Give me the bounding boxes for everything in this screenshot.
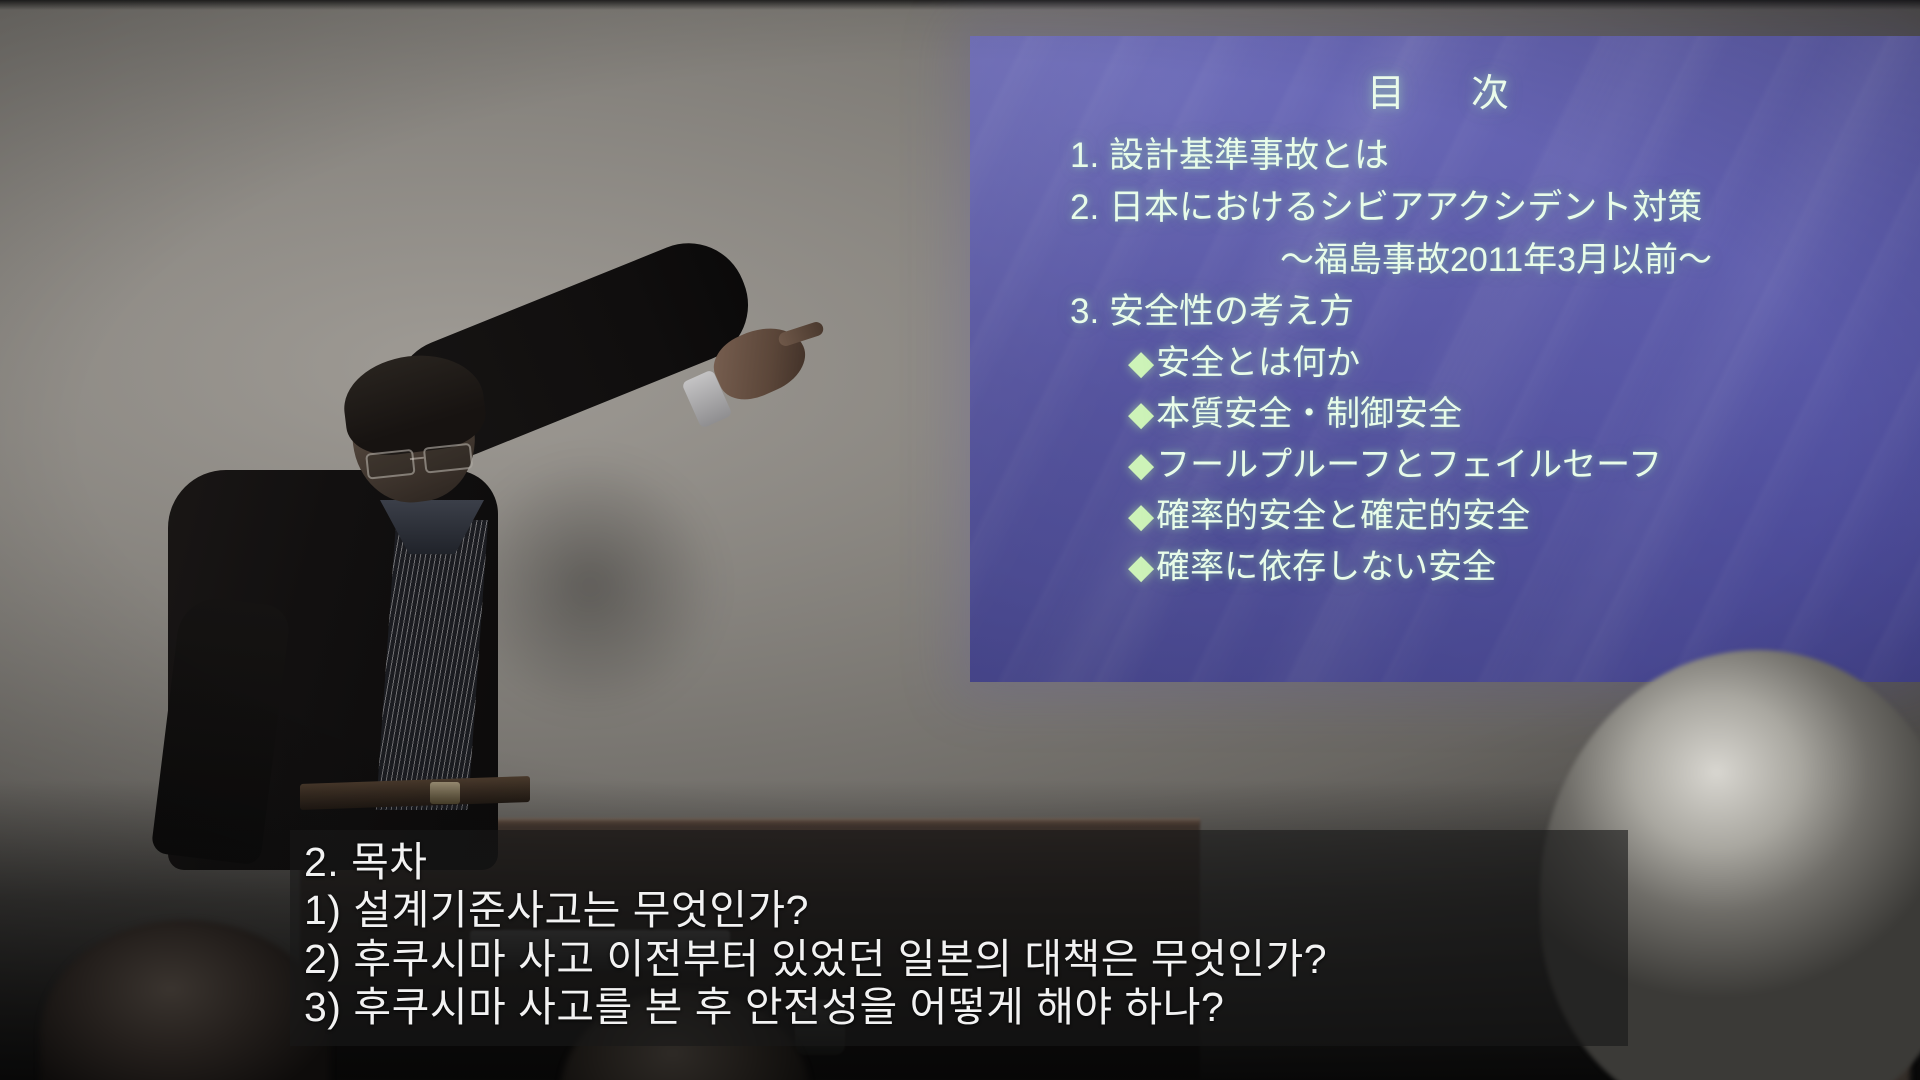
subtitle-overlay: 2. 목차 1) 설계기준사고는 무엇인가? 2) 후쿠시마 사고 이전부터 있… — [290, 830, 1628, 1046]
wall-ceiling-seam — [0, 0, 1920, 10]
slide-item-3-number: 3. — [1070, 292, 1099, 331]
slide-item-2-subnote: 〜福島事故2011年3月以前〜 — [1004, 240, 1886, 280]
subtitle-line-2: 1) 설계기준사고는 무엇인가? — [304, 886, 1614, 934]
slide-item-3: 3. 安全性の考え方 — [1004, 291, 1886, 332]
slide-subitem-4: ◆確率的安全と確定的安全 — [1004, 496, 1886, 536]
lecture-photo: 目 次 1. 設計基準事故とは 2. 日本におけるシビアアクシデント対策 〜福島… — [0, 0, 1920, 1080]
slide-subitem-1-text: 安全とは何か — [1156, 344, 1360, 382]
glasses-left-lens — [365, 449, 415, 480]
glasses-right-lens — [423, 443, 473, 474]
slide-subitem-4-text: 確率的安全と確定的安全 — [1156, 497, 1530, 535]
slide-title: 目 次 — [1004, 62, 1886, 117]
subtitle-line-1: 2. 목차 — [304, 838, 1614, 886]
diamond-bullet-icon: ◆ — [1128, 344, 1154, 382]
diamond-bullet-icon: ◆ — [1128, 497, 1154, 535]
slide-item-2-subnote-text: 〜福島事故2011年3月以前〜 — [1280, 241, 1712, 279]
slide-subitem-3-text: フールプルーフとフェイルセーフ — [1156, 446, 1662, 484]
slide-subitem-5: ◆確率に依存しない安全 — [1004, 547, 1886, 587]
projection-screen: 目 次 1. 設計基準事故とは 2. 日本におけるシビアアクシデント対策 〜福島… — [970, 36, 1920, 682]
slide-subitem-1: ◆安全とは何か — [1004, 343, 1886, 383]
slide-subitem-5-text: 確率に依存しない安全 — [1156, 548, 1496, 586]
diamond-bullet-icon: ◆ — [1128, 446, 1154, 484]
slide-subitem-2: ◆本質安全・制御安全 — [1004, 394, 1886, 434]
slide-subitem-3: ◆フールプルーフとフェイルセーフ — [1004, 445, 1886, 485]
slide-item-3-text: 安全性の考え方 — [1109, 292, 1354, 331]
slide-item-2-text: 日本におけるシビアアクシデント対策 — [1109, 188, 1702, 227]
diamond-bullet-icon: ◆ — [1128, 548, 1154, 586]
subtitle-line-3: 2) 후쿠시마 사고 이전부터 있었던 일본의 대책은 무엇인가? — [304, 935, 1614, 983]
slide-item-1-text: 設計基準事故とは — [1109, 136, 1389, 175]
subtitle-line-4: 3) 후쿠시마 사고를 본 후 안전성을 어떻게 해야 하나? — [304, 983, 1614, 1031]
slide-content: 目 次 1. 設計基準事故とは 2. 日本におけるシビアアクシデント対策 〜福島… — [970, 36, 1920, 588]
slide-item-1-number: 1. — [1070, 136, 1099, 175]
slide-item-2-number: 2. — [1070, 188, 1099, 227]
slide-item-1: 1. 設計基準事故とは — [1004, 135, 1886, 176]
diamond-bullet-icon: ◆ — [1128, 395, 1154, 433]
slide-item-2: 2. 日本におけるシビアアクシデント対策 — [1004, 187, 1886, 228]
slide-subitem-2-text: 本質安全・制御安全 — [1156, 395, 1462, 433]
